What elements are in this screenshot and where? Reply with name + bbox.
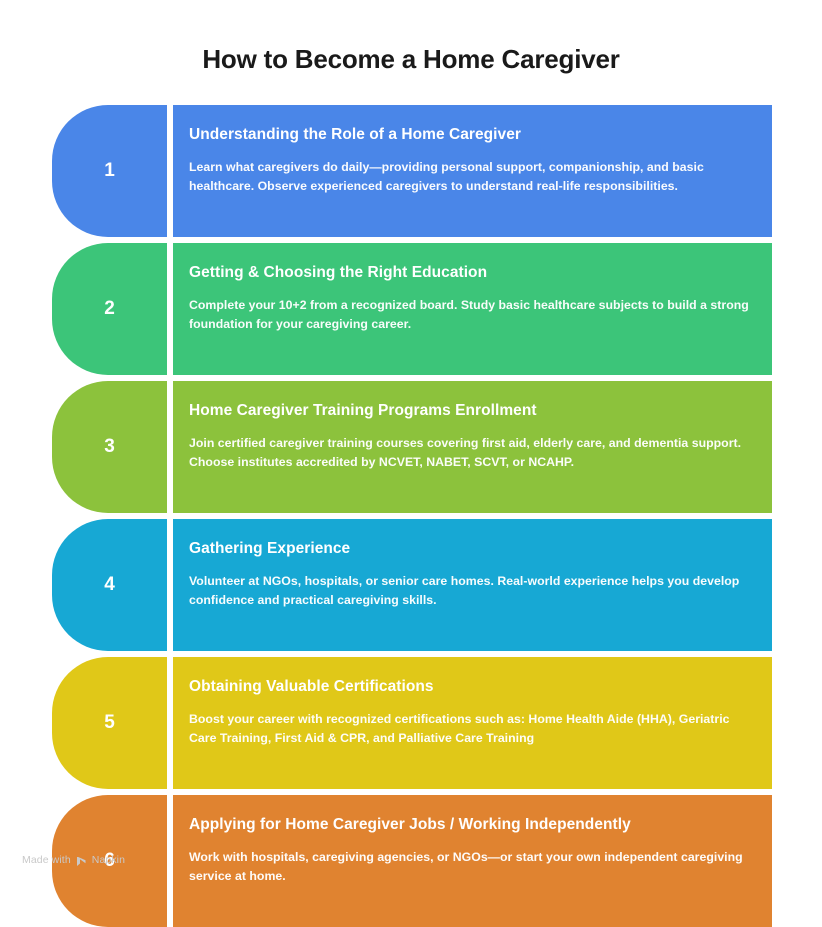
step-heading: Getting & Choosing the Right Education [189,263,750,282]
step-number-badge-1: 1 [52,105,167,237]
step-row: 2 Getting & Choosing the Right Education… [52,243,772,375]
step-panel-2: Getting & Choosing the Right Education C… [173,243,772,375]
step-body: Boost your career with recognized certif… [189,710,750,748]
step-heading: Home Caregiver Training Programs Enrollm… [189,401,750,420]
step-body: Complete your 10+2 from a recognized boa… [189,296,750,334]
step-row: 5 Obtaining Valuable Certifications Boos… [52,657,772,789]
steps-list: 1 Understanding the Role of a Home Careg… [0,105,822,927]
step-number-label: 5 [104,712,115,734]
step-row: 1 Understanding the Role of a Home Careg… [52,105,772,237]
step-row: 6 Applying for Home Caregiver Jobs / Wor… [52,795,772,927]
step-number-label: 3 [104,436,115,458]
step-number-badge-3: 3 [52,381,167,513]
step-number-label: 2 [104,298,115,320]
step-panel-5: Obtaining Valuable Certifications Boost … [173,657,772,789]
step-panel-3: Home Caregiver Training Programs Enrollm… [173,381,772,513]
step-number-label: 1 [104,160,115,182]
step-heading: Gathering Experience [189,539,750,558]
step-heading: Obtaining Valuable Certifications [189,677,750,696]
step-body: Work with hospitals, caregiving agencies… [189,848,750,886]
footer-brand-label: Napkin [92,854,125,866]
step-body: Join certified caregiver training course… [189,434,750,472]
step-row: 4 Gathering Experience Volunteer at NGOs… [52,519,772,651]
step-heading: Applying for Home Caregiver Jobs / Worki… [189,815,750,834]
napkin-logo-icon [76,856,87,867]
step-number-badge-5: 5 [52,657,167,789]
step-panel-1: Understanding the Role of a Home Caregiv… [173,105,772,237]
step-row: 3 Home Caregiver Training Programs Enrol… [52,381,772,513]
footer-made-with-label: Made with [22,854,71,866]
infographic-page: How to Become a Home Caregiver 1 Underst… [0,17,822,885]
step-number-badge-2: 2 [52,243,167,375]
step-panel-4: Gathering Experience Volunteer at NGOs, … [173,519,772,651]
step-number-label: 4 [104,574,115,596]
footer-watermark: Made with Napkin [22,854,125,866]
page-title: How to Become a Home Caregiver [0,17,822,75]
step-number-badge-4: 4 [52,519,167,651]
step-heading: Understanding the Role of a Home Caregiv… [189,125,750,144]
step-body: Volunteer at NGOs, hospitals, or senior … [189,572,750,610]
step-panel-6: Applying for Home Caregiver Jobs / Worki… [173,795,772,927]
step-body: Learn what caregivers do daily—providing… [189,158,750,196]
